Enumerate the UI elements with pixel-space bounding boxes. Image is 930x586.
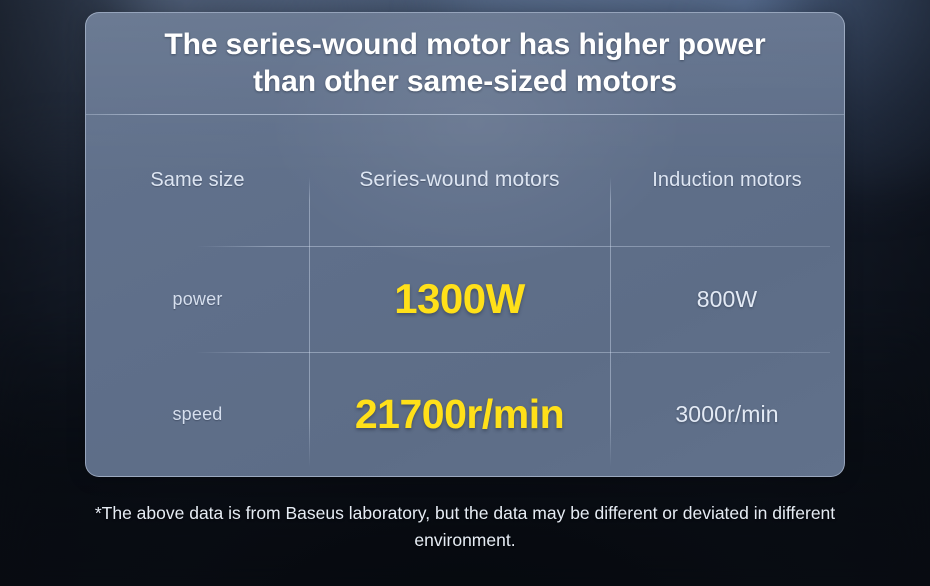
table-header-row: Same size Series-wound motors Induction … [86, 114, 844, 246]
value-power-induction: 800W [697, 286, 757, 313]
card-header: The series-wound motor has higher power … [86, 13, 844, 114]
column-header-same-size: Same size [150, 169, 244, 192]
row-value-cell-speed-series: 21700r/min [309, 352, 610, 477]
row-value-cell-speed-induction: 3000r/min [610, 352, 844, 477]
footnote-text: *The above data is from Baseus laborator… [0, 500, 930, 554]
table-header-cell-induction: Induction motors [610, 114, 844, 246]
table-header-cell-size: Same size [86, 114, 309, 246]
value-speed-series-wound: 21700r/min [355, 391, 564, 438]
row-label-power: power [172, 289, 222, 310]
row-value-cell-power-series: 1300W [309, 246, 610, 352]
page-root: The series-wound motor has higher power … [0, 0, 930, 586]
table-row: speed 21700r/min 3000r/min [86, 352, 844, 477]
table-row: power 1300W 800W [86, 246, 844, 352]
column-header-induction-motors: Induction motors [652, 169, 801, 192]
card-title: The series-wound motor has higher power … [140, 27, 790, 100]
comparison-card: The series-wound motor has higher power … [85, 12, 845, 477]
comparison-table: Same size Series-wound motors Induction … [86, 114, 844, 477]
row-label-speed: speed [172, 404, 222, 425]
value-speed-induction: 3000r/min [675, 401, 778, 428]
row-label-cell-speed: speed [86, 352, 309, 477]
row-value-cell-power-induction: 800W [610, 246, 844, 352]
column-header-series-wound-motors: Series-wound motors [359, 168, 559, 192]
row-label-cell-power: power [86, 246, 309, 352]
table-header-cell-series: Series-wound motors [309, 114, 610, 246]
value-power-series-wound: 1300W [394, 275, 525, 323]
